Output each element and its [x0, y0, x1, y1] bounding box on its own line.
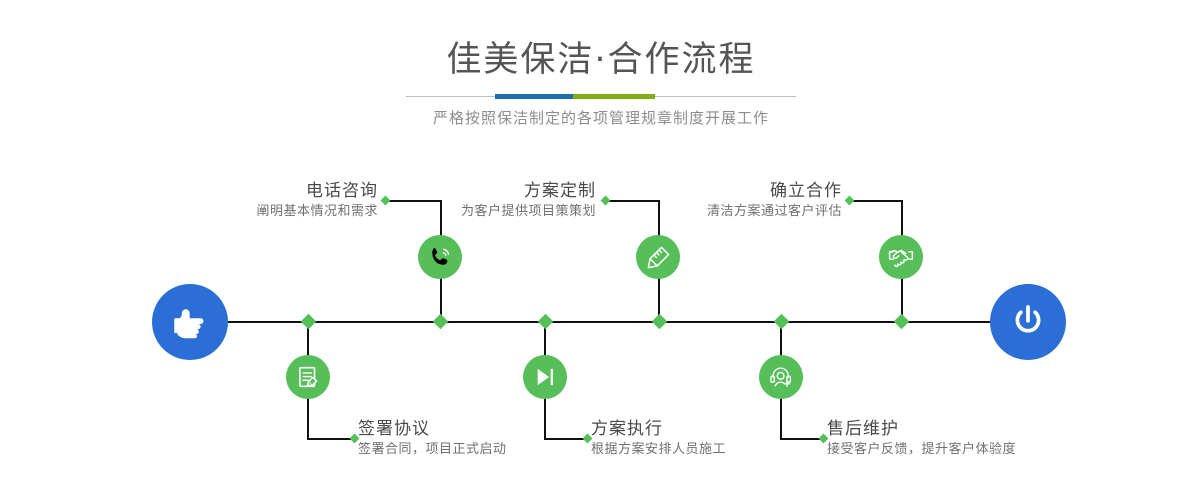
flow-diagram-page: 佳美保洁·合作流程 严格按照保洁制定的各项管理规章制度开展工作	[0, 0, 1202, 502]
document-edit-icon	[295, 364, 321, 390]
step-title-step-5: 确立合作	[588, 180, 842, 202]
step-icon-step-6	[759, 355, 803, 399]
pointing-hand-icon	[169, 301, 211, 343]
axis-marker-1	[301, 314, 317, 330]
divider-blue-segment	[495, 94, 573, 99]
axis-marker-6	[894, 314, 910, 330]
pencil-ruler-icon	[645, 244, 672, 271]
label-block-step-3: 方案定制 为客户提供项目策策划	[340, 180, 596, 222]
connector-run-step-5	[852, 200, 903, 202]
step-icon-step-3	[636, 235, 680, 279]
power-icon	[1008, 302, 1048, 342]
step-icon-step-5	[879, 235, 923, 279]
flow-start-node	[152, 284, 228, 360]
connector-run-step-1	[388, 200, 442, 202]
step-title-step-6: 售后维护	[827, 418, 1147, 440]
connector-run-step-3	[608, 200, 660, 202]
axis-marker-2	[433, 314, 449, 330]
headset-support-icon	[768, 364, 795, 391]
page-header: 佳美保洁·合作流程 严格按照保洁制定的各项管理规章制度开展工作	[0, 0, 1202, 150]
axis-marker-3	[538, 314, 554, 330]
handshake-icon	[887, 243, 915, 271]
page-subtitle: 严格按照保洁制定的各项管理规章制度开展工作	[0, 106, 1202, 130]
connector-run-step-2	[307, 438, 355, 440]
divider-green-segment	[573, 94, 655, 99]
label-marker-step-5	[845, 196, 855, 206]
step-icon-step-1	[418, 235, 462, 279]
page-title: 佳美保洁·合作流程	[0, 38, 1202, 83]
axis-marker-5	[774, 314, 790, 330]
step-desc-step-6: 接受客户反馈，提升客户体验度	[827, 440, 1147, 460]
step-icon-step-4	[523, 355, 567, 399]
step-title-step-3: 方案定制	[340, 180, 596, 202]
step-icon-step-2	[286, 355, 330, 399]
play-end-icon	[532, 364, 558, 390]
label-block-step-6: 售后维护 接受客户反馈，提升客户体验度	[827, 418, 1147, 460]
title-divider	[406, 94, 796, 99]
flow-end-node	[990, 284, 1066, 360]
axis-marker-4	[652, 314, 668, 330]
step-desc-step-5: 清洁方案通过客户评估	[588, 202, 842, 222]
step-desc-step-3: 为客户提供项目策策划	[340, 202, 596, 222]
process-flow: 电话咨询 阐明基本情况和需求 签署协议 签署合同，项目正式启动	[0, 150, 1202, 502]
phone-call-icon	[427, 244, 453, 270]
